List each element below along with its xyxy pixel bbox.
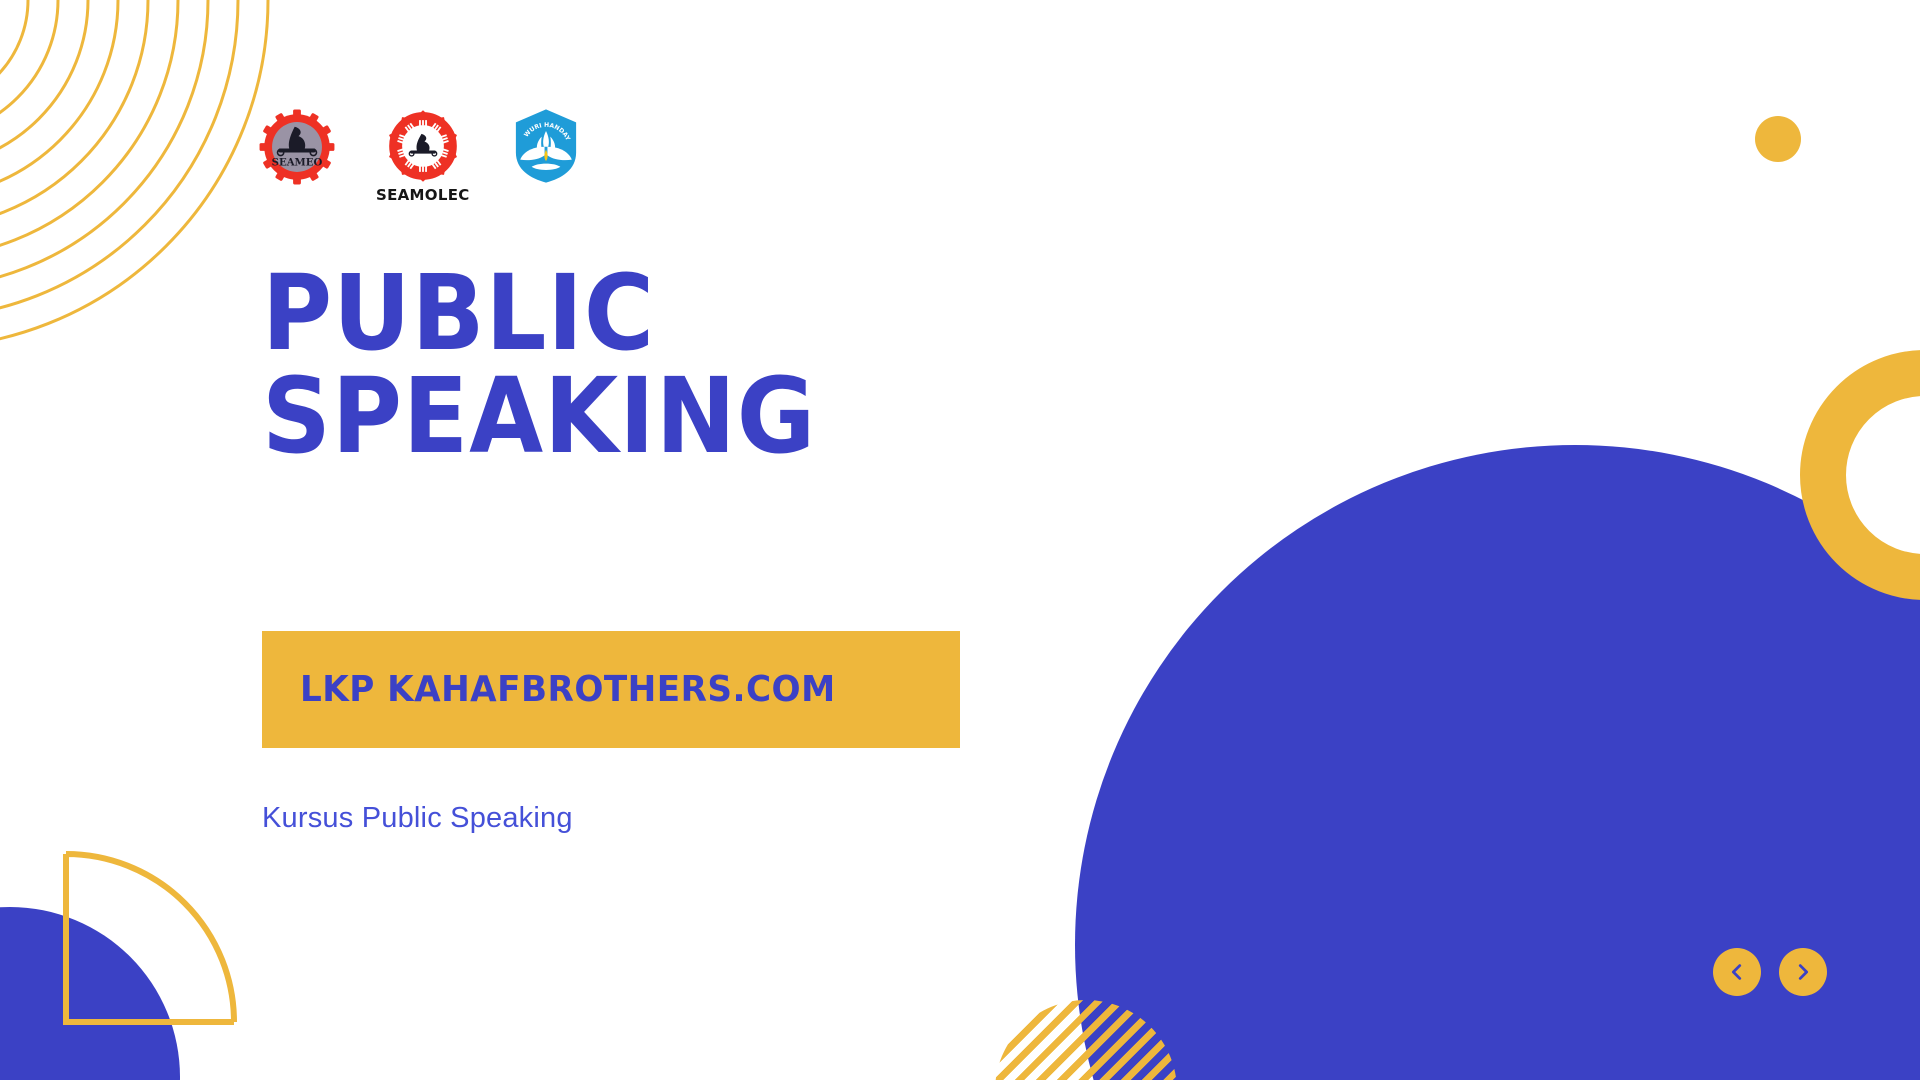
seameo-logo-text: SEAMEO <box>272 157 323 169</box>
chevron-right-icon <box>1792 961 1814 983</box>
brand-banner: LKP KAHAFBROTHERS.COM <box>262 631 960 748</box>
logo-tut-wuri-handayani: TUT WURI HANDAYANI <box>510 108 582 184</box>
seamolec-logo-icon <box>385 108 461 184</box>
tut-wuri-handayani-logo-icon: TUT WURI HANDAYANI <box>510 108 582 184</box>
seamolec-logo-caption: SEAMOLEC <box>376 186 470 204</box>
partner-logos: SEAMEO <box>258 108 582 204</box>
presentation-slide: SEAMEO <box>0 0 1920 1080</box>
prev-slide-button[interactable] <box>1713 948 1761 996</box>
logo-seameo: SEAMEO <box>258 108 336 186</box>
page-title: PUBLIC SPEAKING <box>262 262 816 468</box>
seameo-logo-icon: SEAMEO <box>258 108 336 186</box>
brand-banner-label: LKP KAHAFBROTHERS.COM <box>300 669 836 710</box>
next-slide-button[interactable] <box>1779 948 1827 996</box>
slide-navigation <box>1713 948 1827 996</box>
logo-seamolec: SEAMOLEC <box>376 108 470 204</box>
subtitle: Kursus Public Speaking <box>262 802 573 835</box>
chevron-left-icon <box>1726 961 1748 983</box>
